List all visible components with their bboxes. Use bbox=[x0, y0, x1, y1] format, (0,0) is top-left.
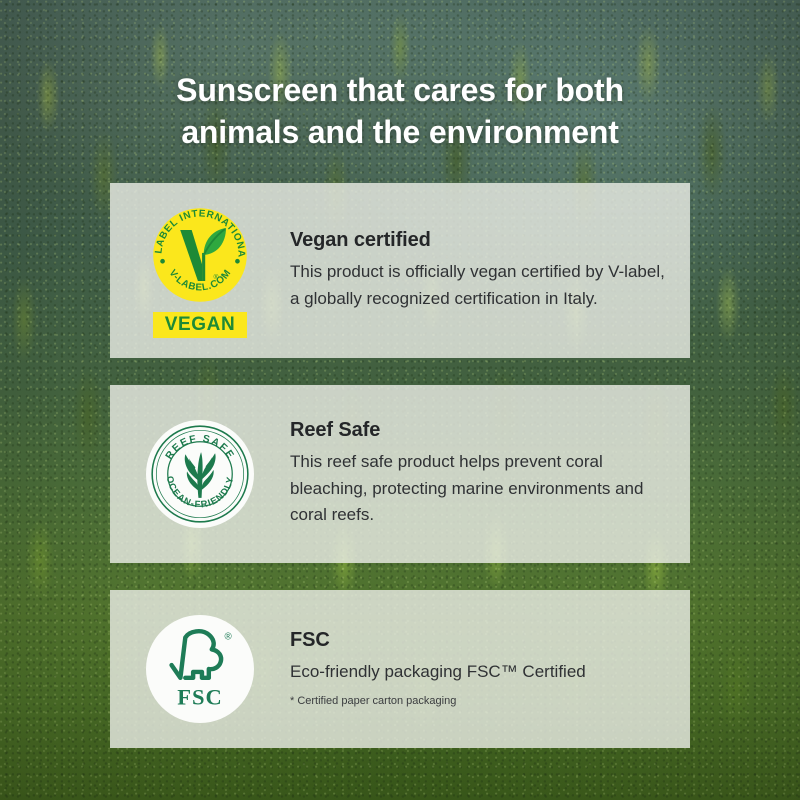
v-label-vegan-badge: V-LABEL INTERNATIONAL V-LABEL.COM ® bbox=[148, 203, 252, 339]
reef-safe-seal-icon: REEF SAFE OCEAN-FRIENDLY bbox=[148, 422, 252, 526]
certification-poster: Sunscreen that cares for both animals an… bbox=[0, 0, 800, 800]
fsc-registered-mark: ® bbox=[225, 632, 233, 643]
fsc-badge: ® FSC bbox=[146, 615, 254, 723]
card-title-vegan: Vegan certified bbox=[290, 229, 668, 252]
badge-column: REEF SAFE OCEAN-FRIENDLY bbox=[110, 420, 290, 528]
v-label-seal-icon: V-LABEL INTERNATIONAL V-LABEL.COM ® bbox=[148, 203, 252, 307]
badge-column: V-LABEL INTERNATIONAL V-LABEL.COM ® bbox=[110, 203, 290, 339]
card-title-fsc: FSC bbox=[290, 629, 668, 652]
card-text-column: Reef Safe This reef safe product helps p… bbox=[290, 419, 690, 529]
card-body-fsc: Eco-friendly packaging FSC™ Certified bbox=[290, 659, 668, 686]
certification-card-reef-safe: REEF SAFE OCEAN-FRIENDLY bbox=[110, 385, 690, 563]
vegan-label-bar: VEGAN bbox=[153, 312, 248, 339]
certification-card-fsc: ® FSC FSC Eco-friendly packaging FSC™ Ce… bbox=[110, 590, 690, 748]
v-label-dot-right bbox=[235, 258, 240, 263]
card-body-reef-safe: This reef safe product helps prevent cor… bbox=[290, 449, 668, 529]
v-letter-stem bbox=[202, 252, 205, 280]
reef-safe-badge: REEF SAFE OCEAN-FRIENDLY bbox=[146, 420, 254, 528]
v-label-registered-mark: ® bbox=[214, 272, 219, 280]
badge-column: ® FSC bbox=[110, 615, 290, 723]
card-note-fsc: * Certified paper carton packaging bbox=[290, 694, 668, 709]
fsc-wordmark: FSC bbox=[177, 684, 223, 709]
card-title-reef-safe: Reef Safe bbox=[290, 419, 668, 442]
card-text-column: FSC Eco-friendly packaging FSC™ Certifie… bbox=[290, 629, 690, 710]
v-label-dot-left bbox=[160, 258, 165, 263]
card-text-column: Vegan certified This product is official… bbox=[290, 229, 690, 312]
fsc-seal-icon: ® FSC bbox=[151, 620, 249, 718]
card-body-vegan: This product is officially vegan certifi… bbox=[290, 259, 668, 312]
headline-line-1: Sunscreen that cares for both bbox=[176, 72, 624, 108]
headline-line-2: animals and the environment bbox=[181, 114, 618, 150]
page-title: Sunscreen that cares for both animals an… bbox=[0, 70, 800, 153]
certification-card-vegan: V-LABEL INTERNATIONAL V-LABEL.COM ® bbox=[110, 183, 690, 358]
